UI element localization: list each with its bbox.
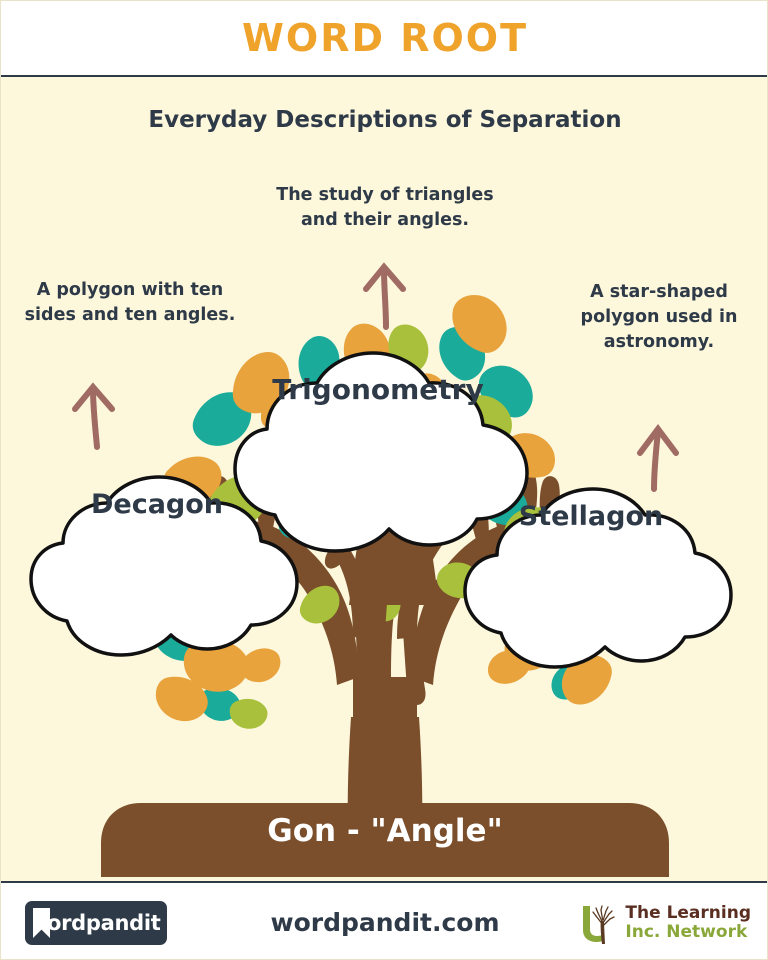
footer-bar: wordpandit.com ordpandit The Learning (1, 881, 768, 960)
infographic-poster: WORD ROOT Everyday Descriptions of Separ… (0, 0, 768, 960)
header-band: WORD ROOT (1, 1, 768, 77)
bookmark-icon (33, 908, 50, 938)
learning-network-line2: Inc. Network (625, 923, 751, 942)
arrow-center (366, 267, 403, 327)
wordpandit-logo-text: ordpandit (47, 911, 161, 935)
learning-network-logo[interactable]: The Learning Inc. Network (575, 899, 751, 947)
learning-network-line1: The Learning (625, 904, 751, 923)
page-title: WORD ROOT (242, 16, 528, 60)
learning-network-tree-icon (575, 900, 619, 946)
tree-scene (1, 77, 768, 881)
arrow-right (640, 429, 676, 489)
arrow-left (75, 387, 112, 447)
root-word-banner: Gon - "Angle" (1, 813, 768, 849)
wordpandit-logo[interactable]: ordpandit (25, 901, 167, 945)
learning-network-text: The Learning Inc. Network (625, 904, 751, 942)
